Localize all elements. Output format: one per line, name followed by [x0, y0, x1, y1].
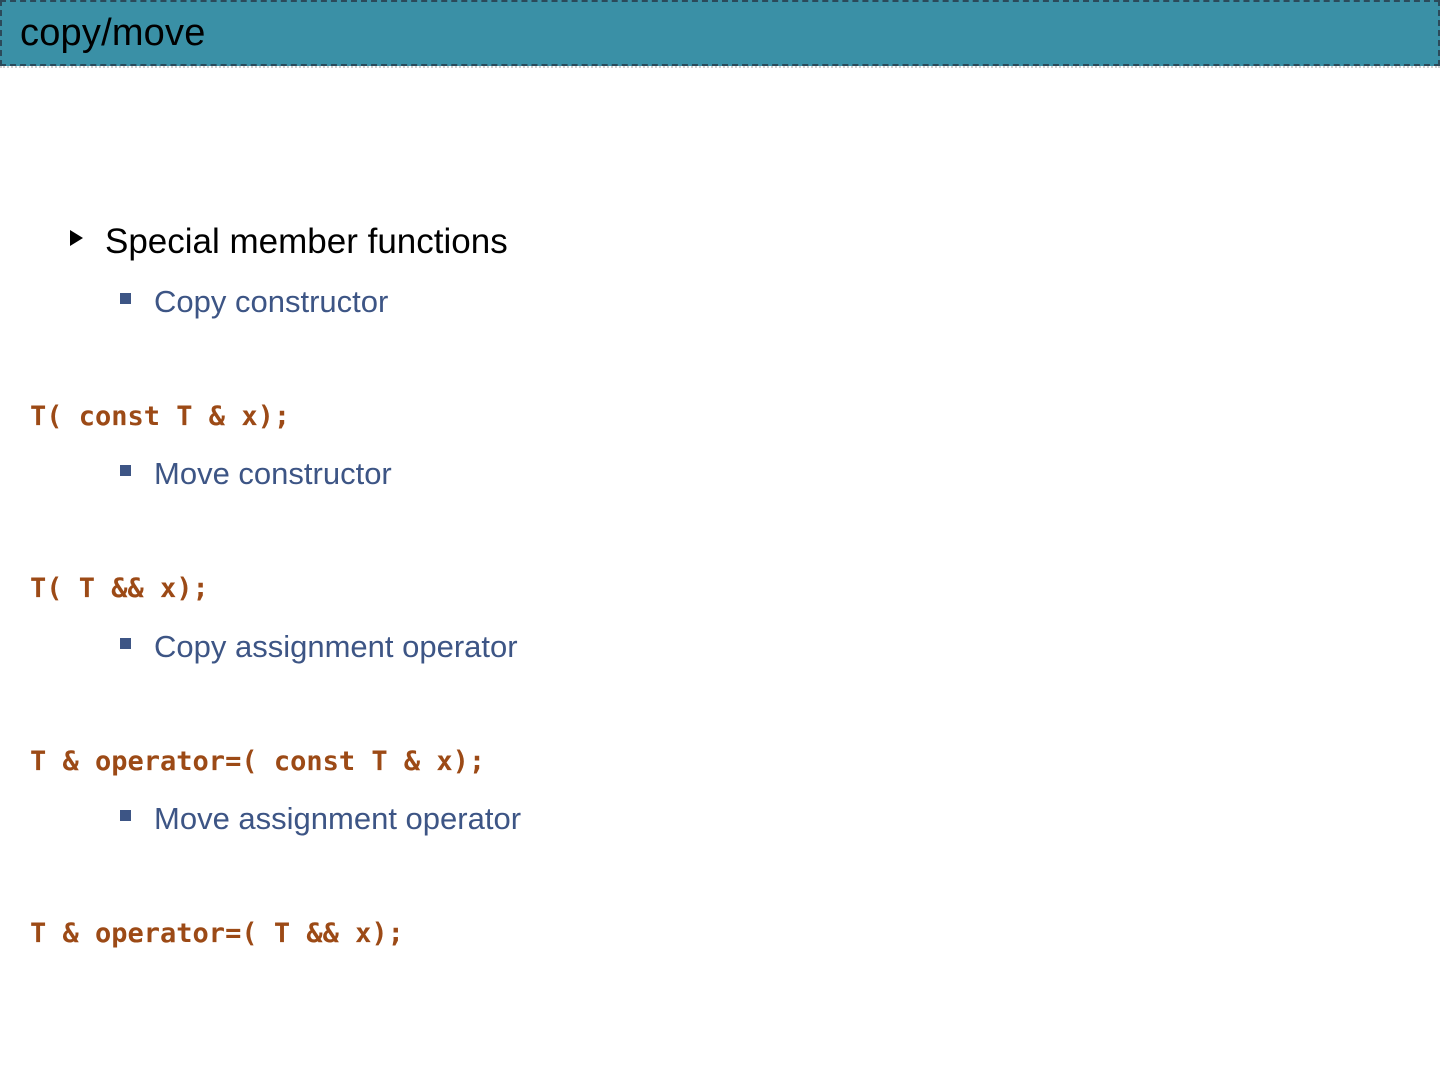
bullet-level2-move-constructor: Move constructor	[120, 458, 392, 489]
slide-content: Special member functions Copy constructo…	[0, 66, 1440, 1080]
page-title: copy/move	[2, 14, 206, 52]
code-snippet-move-assignment-operator: T & operator=( T && x);	[30, 920, 404, 947]
bullet-level2-label: Copy constructor	[154, 286, 388, 317]
bullet-level1-label: Special member functions	[105, 224, 508, 259]
code-snippet-copy-constructor: T( const T & x);	[30, 403, 290, 430]
square-bullet-icon	[120, 293, 131, 304]
bullet-level2-label: Move assignment operator	[154, 803, 521, 834]
bullet-level1-special-member-functions: Special member functions	[70, 224, 508, 259]
triangle-right-icon	[70, 230, 83, 246]
bullet-level2-copy-constructor: Copy constructor	[120, 286, 388, 317]
bullet-level2-label: Copy assignment operator	[154, 631, 518, 662]
bullet-level2-move-assignment-operator: Move assignment operator	[120, 803, 521, 834]
square-bullet-icon	[120, 638, 131, 649]
square-bullet-icon	[120, 465, 131, 476]
bullet-level2-copy-assignment-operator: Copy assignment operator	[120, 631, 518, 662]
square-bullet-icon	[120, 810, 131, 821]
code-snippet-move-constructor: T( T && x);	[30, 575, 209, 602]
code-snippet-copy-assignment-operator: T & operator=( const T & x);	[30, 748, 485, 775]
bullet-level2-label: Move constructor	[154, 458, 392, 489]
slide-title-bar: copy/move	[0, 0, 1440, 66]
